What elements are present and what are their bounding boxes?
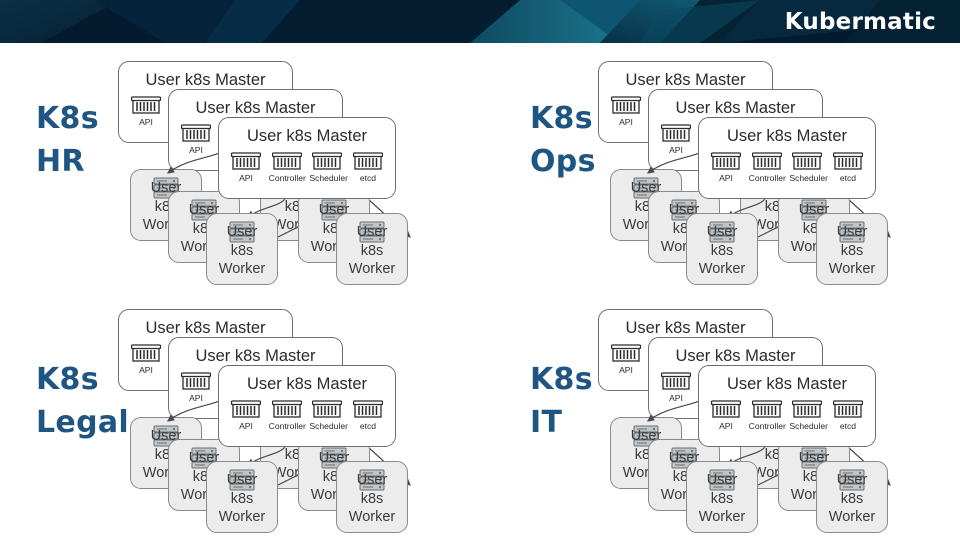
container-icon bbox=[131, 343, 161, 364]
worker-line-1: User bbox=[337, 471, 407, 490]
container-icon bbox=[312, 399, 342, 420]
master-component-label: Controller bbox=[749, 421, 785, 431]
master-component-label: API bbox=[658, 393, 694, 403]
cluster-diagram-hr: User k8s Master API bbox=[110, 51, 460, 291]
diagram-stage: K8s HR User k8s Mast bbox=[0, 43, 960, 540]
cluster-label-ops: K8s Ops bbox=[530, 98, 596, 183]
container-icon bbox=[272, 151, 302, 172]
master-component-controller[interactable]: Controller bbox=[269, 399, 305, 431]
master-component-api[interactable]: API bbox=[178, 371, 214, 403]
master-component-scheduler[interactable]: Scheduler bbox=[789, 399, 825, 431]
worker-line-1: User bbox=[817, 471, 887, 490]
master-component-label: etcd bbox=[350, 421, 386, 431]
master-component-label: API bbox=[608, 365, 644, 375]
master-component-label: API bbox=[658, 145, 694, 155]
cluster-diagram-it: User k8s Master API bbox=[590, 299, 940, 539]
container-icon bbox=[312, 151, 342, 172]
worker-node[interactable]: User k8s Worker bbox=[206, 461, 278, 533]
master-component-label: Scheduler bbox=[789, 421, 825, 431]
master-title: User k8s Master bbox=[599, 319, 772, 338]
master-title: User k8s Master bbox=[219, 127, 395, 146]
worker-line-3: Worker bbox=[687, 508, 757, 527]
worker-line-3: Worker bbox=[817, 508, 887, 527]
master-component-controller[interactable]: Controller bbox=[269, 151, 305, 183]
worker-line-3: Worker bbox=[687, 260, 757, 279]
worker-line-2: k8s bbox=[337, 490, 407, 509]
container-icon bbox=[661, 123, 691, 144]
container-icon bbox=[833, 151, 863, 172]
container-icon bbox=[353, 151, 383, 172]
master-title: User k8s Master bbox=[219, 375, 395, 394]
master-node-front[interactable]: User k8s Master API bbox=[698, 365, 876, 447]
master-component-api[interactable]: API bbox=[128, 343, 164, 375]
worker-line-2: k8s bbox=[687, 242, 757, 261]
worker-line-1: User bbox=[687, 471, 757, 490]
cluster-panel-it: K8s IT User k8s Mast bbox=[480, 291, 960, 539]
master-component-etcd[interactable]: etcd bbox=[830, 399, 866, 431]
master-component-label: Scheduler bbox=[789, 173, 825, 183]
brand-logo-text: Kubermatic bbox=[785, 9, 936, 35]
worker-line-3: Worker bbox=[337, 508, 407, 527]
container-icon bbox=[131, 95, 161, 116]
worker-node[interactable]: User k8s Worker bbox=[336, 213, 408, 285]
master-component-etcd[interactable]: etcd bbox=[350, 151, 386, 183]
worker-line-1: User bbox=[337, 223, 407, 242]
master-title: User k8s Master bbox=[119, 319, 292, 338]
master-title: User k8s Master bbox=[599, 71, 772, 90]
worker-node[interactable]: User k8s Worker bbox=[816, 461, 888, 533]
worker-line-3: Worker bbox=[337, 260, 407, 279]
master-component-label: API bbox=[608, 117, 644, 127]
container-icon bbox=[792, 151, 822, 172]
master-component-label: API bbox=[128, 365, 164, 375]
master-component-api[interactable]: API bbox=[608, 343, 644, 375]
container-icon bbox=[711, 399, 741, 420]
master-title: User k8s Master bbox=[699, 375, 875, 394]
master-component-label: Scheduler bbox=[309, 173, 345, 183]
cluster-panel-hr: K8s HR User k8s Mast bbox=[0, 43, 480, 291]
container-icon bbox=[231, 399, 261, 420]
master-component-label: Controller bbox=[749, 173, 785, 183]
master-title: User k8s Master bbox=[649, 347, 822, 366]
master-component-controller[interactable]: Controller bbox=[749, 151, 785, 183]
master-component-api[interactable]: API bbox=[608, 95, 644, 127]
worker-line-2: k8s bbox=[817, 242, 887, 261]
master-component-label: Scheduler bbox=[309, 421, 345, 431]
master-component-label: API bbox=[128, 117, 164, 127]
master-title: User k8s Master bbox=[169, 347, 342, 366]
master-title: User k8s Master bbox=[169, 99, 342, 118]
master-component-etcd[interactable]: etcd bbox=[350, 399, 386, 431]
master-component-label: API bbox=[228, 173, 264, 183]
container-icon bbox=[181, 123, 211, 144]
master-component-scheduler[interactable]: Scheduler bbox=[309, 399, 345, 431]
worker-line-3: Worker bbox=[207, 260, 277, 279]
cluster-label-it: K8s IT bbox=[530, 359, 593, 444]
master-component-api[interactable]: API bbox=[128, 95, 164, 127]
master-component-label: API bbox=[708, 173, 744, 183]
container-icon bbox=[611, 343, 641, 364]
master-component-scheduler[interactable]: Scheduler bbox=[309, 151, 345, 183]
cluster-diagram-ops: User k8s Master API bbox=[590, 51, 940, 291]
master-component-controller[interactable]: Controller bbox=[749, 399, 785, 431]
worker-node[interactable]: User k8s Worker bbox=[686, 461, 758, 533]
master-component-api[interactable]: API bbox=[658, 371, 694, 403]
master-component-label: API bbox=[178, 393, 214, 403]
cluster-label-hr: K8s HR bbox=[36, 98, 99, 183]
worker-line-2: k8s bbox=[687, 490, 757, 509]
master-component-label: Controller bbox=[269, 421, 305, 431]
container-icon bbox=[792, 399, 822, 420]
worker-line-1: User bbox=[207, 471, 277, 490]
container-icon bbox=[752, 151, 782, 172]
cluster-panel-ops: K8s Ops User k8s Mas bbox=[480, 43, 960, 291]
master-title: User k8s Master bbox=[649, 99, 822, 118]
master-title: User k8s Master bbox=[699, 127, 875, 146]
worker-line-3: Worker bbox=[817, 260, 887, 279]
master-component-api[interactable]: API bbox=[708, 151, 744, 183]
cluster-diagram-legal: User k8s Master API bbox=[110, 299, 460, 539]
container-icon bbox=[711, 151, 741, 172]
master-node-front[interactable]: User k8s Master API bbox=[698, 117, 876, 199]
master-node-front[interactable]: User k8s Master API bbox=[218, 365, 396, 447]
master-component-api[interactable]: API bbox=[708, 399, 744, 431]
worker-node[interactable]: User k8s Worker bbox=[206, 213, 278, 285]
container-icon bbox=[231, 151, 261, 172]
worker-line-3: Worker bbox=[207, 508, 277, 527]
master-component-api[interactable]: API bbox=[228, 399, 264, 431]
master-component-label: etcd bbox=[830, 421, 866, 431]
container-icon bbox=[181, 371, 211, 392]
master-node-front[interactable]: User k8s Master API bbox=[218, 117, 396, 199]
worker-line-2: k8s bbox=[817, 490, 887, 509]
worker-node[interactable]: User k8s Worker bbox=[686, 213, 758, 285]
container-icon bbox=[833, 399, 863, 420]
master-component-scheduler[interactable]: Scheduler bbox=[789, 151, 825, 183]
container-icon bbox=[752, 399, 782, 420]
worker-line-1: User bbox=[207, 223, 277, 242]
master-component-label: etcd bbox=[350, 173, 386, 183]
master-component-api[interactable]: API bbox=[228, 151, 264, 183]
master-component-label: Controller bbox=[269, 173, 305, 183]
container-icon bbox=[353, 399, 383, 420]
master-title: User k8s Master bbox=[119, 71, 292, 90]
worker-line-1: User bbox=[817, 223, 887, 242]
container-icon bbox=[661, 371, 691, 392]
container-icon bbox=[611, 95, 641, 116]
master-component-label: API bbox=[708, 421, 744, 431]
master-component-etcd[interactable]: etcd bbox=[830, 151, 866, 183]
master-component-api[interactable]: API bbox=[658, 123, 694, 155]
master-component-api[interactable]: API bbox=[178, 123, 214, 155]
worker-node[interactable]: User k8s Worker bbox=[336, 461, 408, 533]
worker-line-1: User bbox=[687, 223, 757, 242]
app-header-banner: Kubermatic bbox=[0, 0, 960, 43]
master-component-label: etcd bbox=[830, 173, 866, 183]
worker-line-2: k8s bbox=[337, 242, 407, 261]
cluster-panel-legal: K8s Legal User k8s M bbox=[0, 291, 480, 539]
worker-node[interactable]: User k8s Worker bbox=[816, 213, 888, 285]
master-component-label: API bbox=[228, 421, 264, 431]
master-component-label: API bbox=[178, 145, 214, 155]
container-icon bbox=[272, 399, 302, 420]
worker-line-2: k8s bbox=[207, 490, 277, 509]
worker-line-2: k8s bbox=[207, 242, 277, 261]
